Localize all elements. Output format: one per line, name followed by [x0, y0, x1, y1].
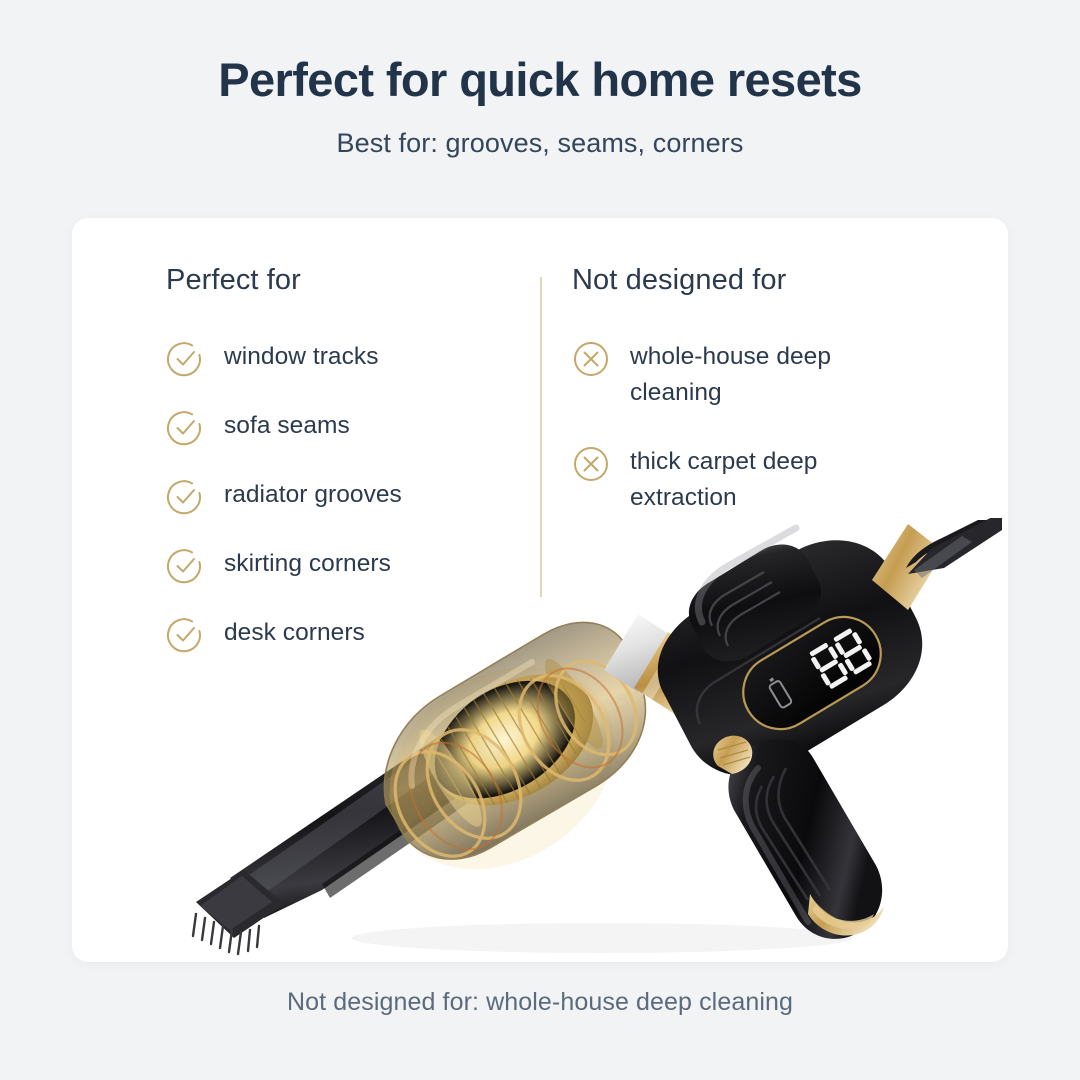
infographic-page: Perfect for quick home resets Best for: … [0, 0, 1080, 1080]
x-circle-icon [572, 445, 610, 483]
list-item-label: window tracks [224, 339, 379, 375]
list-item: desk corners [166, 615, 526, 654]
page-title: Perfect for quick home resets [0, 54, 1080, 106]
check-circle-icon [166, 340, 204, 378]
list-item-label: radiator grooves [224, 477, 402, 513]
list-item: skirting corners [166, 546, 526, 585]
footer: Not designed for: whole-house deep clean… [0, 988, 1080, 1017]
list-item: whole-house deep cleaning [572, 339, 902, 410]
check-circle-icon [166, 478, 204, 516]
handle [713, 736, 884, 939]
header: Perfect for quick home resets Best for: … [0, 54, 1080, 159]
check-circle-icon [166, 409, 204, 447]
perfect-for-heading: Perfect for [166, 264, 526, 297]
footer-caption: Not designed for: whole-house deep clean… [287, 988, 793, 1016]
list-item: sofa seams [166, 408, 526, 447]
check-circle-icon [166, 547, 204, 585]
not-designed-for-column: Not designed for whole-house deep cleani… [572, 264, 902, 549]
list-item-label: sofa seams [224, 408, 350, 444]
list-item: thick carpet deep extraction [572, 444, 902, 515]
not-designed-for-heading: Not designed for [572, 264, 902, 297]
list-item: radiator grooves [166, 477, 526, 516]
comparison-card: Perfect for window tracks [72, 218, 1008, 962]
list-item-label: whole-house deep cleaning [630, 339, 892, 410]
list-item-label: desk corners [224, 615, 365, 651]
list-item-label: thick carpet deep extraction [630, 444, 892, 515]
check-circle-icon [166, 616, 204, 654]
page-subtitle: Best for: grooves, seams, corners [0, 128, 1080, 159]
x-circle-icon [572, 340, 610, 378]
column-divider [540, 277, 542, 597]
perfect-for-column: Perfect for window tracks [166, 264, 526, 654]
list-item-label: skirting corners [224, 546, 391, 582]
list-item: window tracks [166, 339, 526, 378]
